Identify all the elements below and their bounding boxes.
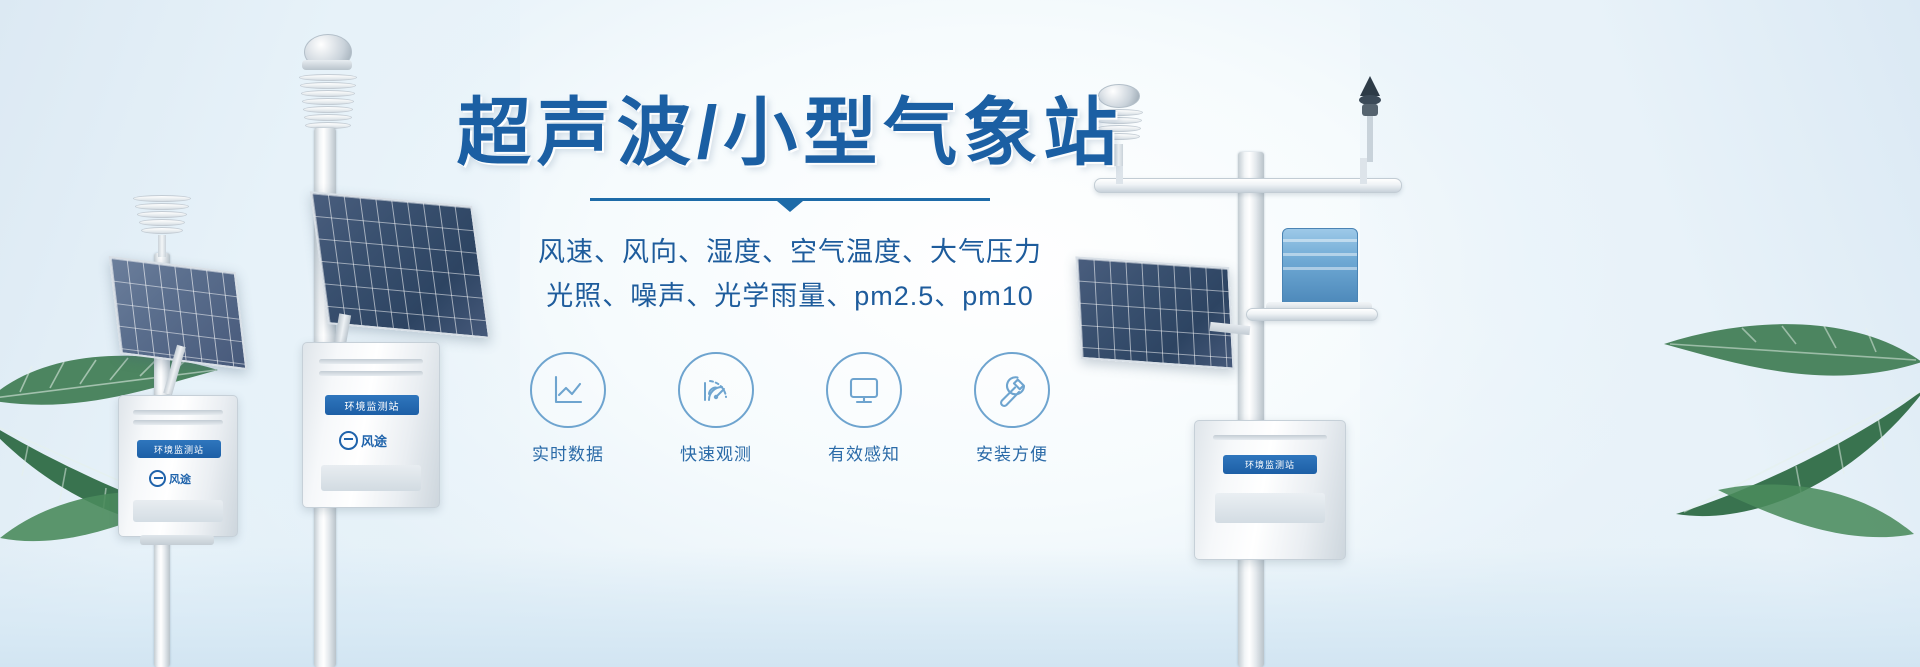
station-plate-center: 环境监测站: [325, 395, 419, 415]
radiation-shield-left: [134, 195, 190, 234]
product-banner: 环境监测站 风途: [0, 0, 1920, 667]
feature-line-2: 光照、噪声、光学雨量、pm2.5、pm10: [538, 275, 1042, 319]
highlight-icons: 实时数据 快速观测: [524, 352, 1056, 465]
highlight-easy-installation[interactable]: 安装方便: [968, 352, 1056, 465]
brand-name-center: 风途: [361, 431, 387, 450]
wrench-icon: [974, 352, 1050, 428]
enclosure-box-right: 环境监测站: [1194, 420, 1346, 560]
line-chart-icon: [530, 352, 606, 428]
banner-content: 超声波/小型气象站 风速、风向、湿度、空气温度、大气压力 光照、噪声、光学雨量、…: [430, 96, 1150, 465]
brand-logo-left: 风途: [149, 470, 191, 487]
enclosure-box-left: 环境监测站 风途: [118, 395, 238, 537]
wind-vane: [1350, 70, 1390, 167]
brand-logo-center: 风途: [339, 431, 387, 450]
highlight-effective-sensing[interactable]: 有效感知: [820, 352, 908, 465]
highlight-label: 实时数据: [532, 440, 604, 465]
feature-line-1: 风速、风向、湿度、空气温度、大气压力: [538, 231, 1042, 275]
enclosure-box-center: 环境监测站 风途: [302, 342, 440, 508]
highlight-rapid-observation[interactable]: 快速观测: [672, 352, 760, 465]
monitor-icon: [826, 352, 902, 428]
brand-name-left: 风途: [169, 471, 191, 487]
lower-cross-arm: [1246, 308, 1378, 321]
chevron-down-icon: [777, 201, 803, 212]
highlight-label: 安装方便: [976, 440, 1048, 465]
station-plate-right: 环境监测站: [1223, 455, 1317, 474]
station-plate-left: 环境监测站: [137, 440, 221, 458]
brand-mark-icon: [339, 431, 358, 450]
highlight-label: 快速观测: [680, 440, 752, 465]
brand-mark-icon: [149, 470, 166, 487]
optical-rain-gauge: [1282, 228, 1358, 308]
radar-wave-icon: [678, 352, 754, 428]
title-divider: [590, 198, 990, 201]
highlight-realtime-data[interactable]: 实时数据: [524, 352, 612, 465]
highlight-label: 有效感知: [828, 440, 900, 465]
radiation-shield-center: [300, 74, 356, 129]
feature-list: 风速、风向、湿度、空气温度、大气压力 光照、噪声、光学雨量、pm2.5、pm10: [538, 231, 1042, 318]
banner-headline: 超声波/小型气象站: [457, 96, 1124, 170]
